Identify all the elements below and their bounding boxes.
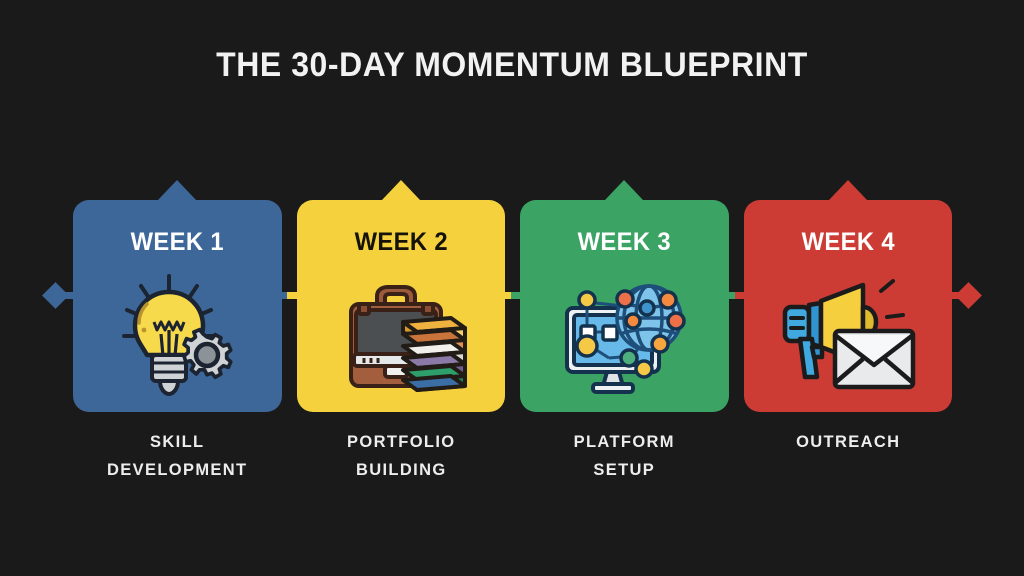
- megaphone-envelope-icon: [744, 266, 953, 406]
- briefcase-books-icon: [297, 266, 506, 406]
- caption-week-1: SKILL DEVELOPMENT: [76, 428, 278, 484]
- week-1-label: WEEK 1: [78, 228, 276, 257]
- caption-week-3-line1: PLATFORM: [523, 428, 725, 456]
- caption-week-2-line2: BUILDING: [300, 456, 502, 484]
- card-notch: [382, 180, 420, 200]
- week-2-label: WEEK 2: [302, 228, 500, 257]
- monitor-globe-network-icon: [520, 266, 729, 406]
- week-card-4[interactable]: WEEK 4: [744, 200, 953, 412]
- card-notch: [829, 180, 867, 200]
- week-card-1[interactable]: WEEK 1: [73, 200, 282, 412]
- caption-week-4-line1: OUTREACH: [747, 428, 949, 456]
- caption-week-1-line2: DEVELOPMENT: [76, 456, 278, 484]
- week-card-3[interactable]: WEEK 3: [520, 200, 729, 412]
- caption-week-1-line1: SKILL: [76, 428, 278, 456]
- timeline-start-marker: [42, 282, 69, 309]
- caption-week-3: PLATFORM SETUP: [523, 428, 725, 484]
- card-notch: [158, 180, 196, 200]
- timeline-end-marker: [955, 282, 982, 309]
- captions-row: SKILL DEVELOPMENT PORTFOLIO BUILDING PLA…: [73, 428, 952, 484]
- caption-week-4: OUTREACH: [747, 428, 949, 484]
- caption-week-3-line2: SETUP: [523, 456, 725, 484]
- infographic-canvas: THE 30-DAY MOMENTUM BLUEPRINT WEEK 1: [0, 0, 1024, 576]
- lightbulb-gear-icon: [73, 266, 282, 406]
- week-card-2[interactable]: WEEK 2: [297, 200, 506, 412]
- week-3-label: WEEK 3: [525, 228, 723, 257]
- week-4-label: WEEK 4: [749, 228, 947, 257]
- page-title: THE 30-DAY MOMENTUM BLUEPRINT: [31, 46, 994, 85]
- card-notch: [605, 180, 643, 200]
- caption-week-2-line1: PORTFOLIO: [300, 428, 502, 456]
- week-cards-row: WEEK 1: [73, 180, 952, 412]
- caption-week-2: PORTFOLIO BUILDING: [300, 428, 502, 484]
